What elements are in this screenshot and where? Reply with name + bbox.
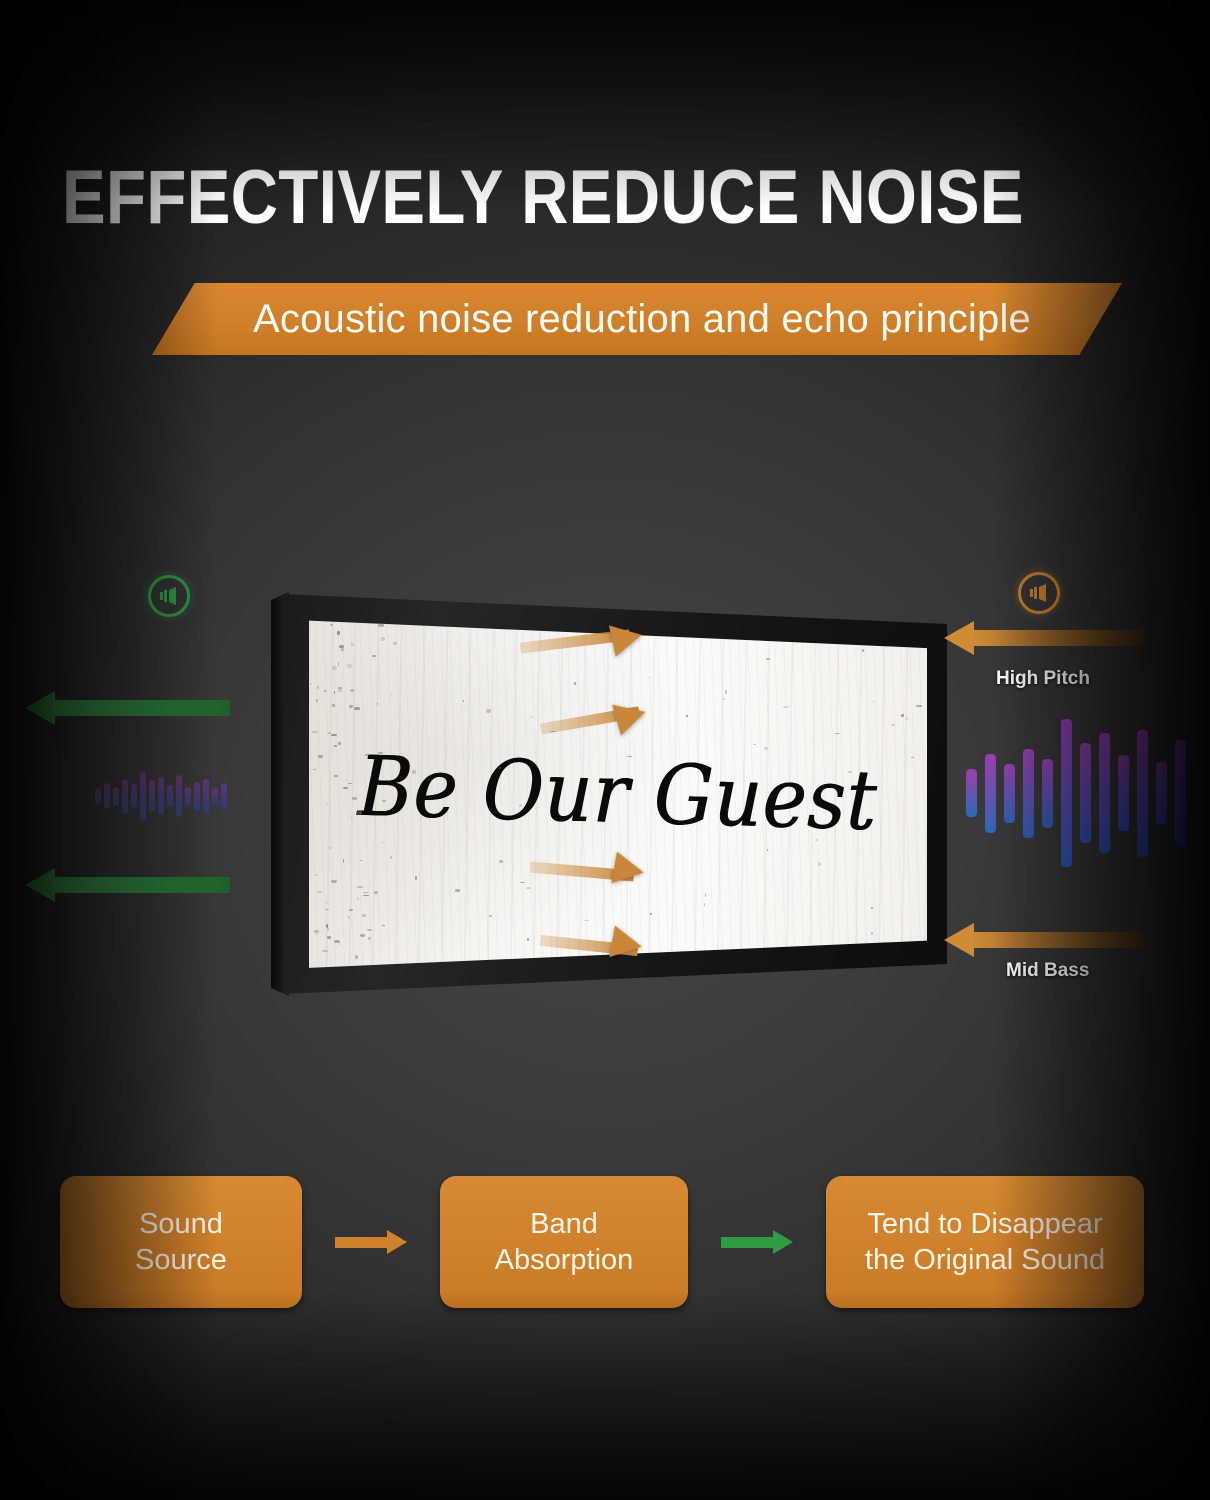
subtitle-banner: Acoustic noise reduction and echo princi… bbox=[152, 283, 1122, 355]
panel-speck bbox=[360, 934, 365, 937]
panel-speck bbox=[848, 771, 852, 772]
panel-speck bbox=[322, 950, 327, 952]
panel-speck bbox=[348, 916, 350, 918]
waveform-bar bbox=[1023, 749, 1034, 838]
panel-speck bbox=[499, 860, 503, 863]
waveform-bar bbox=[176, 775, 182, 817]
pass-through-arrow-3 bbox=[611, 852, 646, 889]
panel-speck bbox=[324, 690, 326, 692]
panel-speck bbox=[725, 690, 727, 694]
panel-speck bbox=[347, 664, 352, 668]
waveform-bar bbox=[221, 783, 227, 809]
waveform-bar bbox=[158, 777, 164, 815]
panel-speck bbox=[351, 643, 354, 646]
waveform-bar bbox=[1080, 743, 1091, 843]
panel-speck bbox=[412, 770, 416, 773]
waveform-bar bbox=[185, 787, 191, 806]
panel-speck bbox=[378, 623, 384, 627]
waveform-left bbox=[95, 770, 230, 822]
label-mid-bass: Mid Bass bbox=[1006, 960, 1089, 982]
panel-speck bbox=[365, 754, 368, 756]
panel-speck bbox=[349, 705, 354, 708]
panel-speck bbox=[527, 938, 529, 941]
waveform-right bbox=[966, 718, 1194, 868]
panel-speck bbox=[489, 915, 492, 917]
panel-speck bbox=[871, 907, 873, 910]
panel-speck bbox=[326, 924, 328, 927]
panel-speck bbox=[318, 755, 323, 757]
panel-speck bbox=[871, 932, 873, 935]
waveform-bar bbox=[1042, 759, 1053, 828]
panel-speck bbox=[338, 689, 342, 691]
speaker-icon-right bbox=[1018, 572, 1060, 614]
panel-speck bbox=[783, 706, 788, 708]
infographic-page: EFFECTIVELY REDUCE NOISE Acoustic noise … bbox=[0, 0, 1210, 1500]
panel-speck bbox=[317, 686, 319, 689]
panel-speck bbox=[337, 631, 340, 634]
waveform-bar bbox=[1061, 719, 1072, 867]
panel-speck bbox=[382, 925, 385, 926]
panel-speck bbox=[455, 889, 461, 891]
waveform-bar bbox=[212, 788, 218, 804]
speaker-icon-left bbox=[148, 575, 190, 617]
panel-speck bbox=[316, 699, 318, 701]
waveform-bar bbox=[104, 783, 110, 809]
waveform-bar bbox=[1175, 740, 1186, 847]
flow-step-disappear-sound: Tend to Disappear the Original Sound bbox=[826, 1176, 1144, 1308]
panel-speck bbox=[334, 775, 338, 777]
waveform-bar bbox=[1156, 762, 1167, 824]
banner-label: Acoustic noise reduction and echo princi… bbox=[152, 283, 1122, 355]
panel-speck bbox=[891, 724, 895, 726]
panel-speck bbox=[331, 880, 337, 882]
panel-speck bbox=[767, 849, 768, 850]
waveform-bar bbox=[140, 772, 146, 820]
pass-through-arrow-1 bbox=[609, 619, 645, 657]
panel-speck bbox=[722, 698, 725, 700]
waveform-bar bbox=[149, 780, 155, 812]
panel-speck bbox=[334, 745, 338, 747]
panel-speck bbox=[818, 862, 821, 866]
incoming-arrow-high-pitch bbox=[944, 621, 1144, 655]
waveform-bar bbox=[113, 787, 119, 806]
outgoing-arrow-bottom bbox=[25, 868, 230, 902]
panel-speck bbox=[312, 731, 318, 734]
flow-connector-1 bbox=[335, 1232, 407, 1252]
panel-speck bbox=[357, 811, 362, 814]
waveform-bar bbox=[966, 769, 977, 817]
panel-speck bbox=[363, 895, 369, 896]
waveform-bar bbox=[122, 779, 128, 814]
waveform-bar bbox=[1118, 755, 1129, 831]
panel-speck bbox=[901, 714, 903, 717]
panel-speck bbox=[627, 756, 631, 757]
panel-speck bbox=[916, 705, 922, 707]
panel-speck bbox=[862, 649, 863, 652]
panel-speck bbox=[332, 704, 335, 707]
waveform-bar bbox=[194, 782, 200, 811]
panel-speck bbox=[526, 887, 531, 889]
panel-speck bbox=[357, 886, 363, 888]
incoming-arrow-mid-bass bbox=[944, 923, 1144, 957]
flow-connector-2 bbox=[721, 1232, 793, 1252]
panel-speck bbox=[574, 682, 577, 684]
panel-speck bbox=[415, 876, 417, 880]
panel-speck bbox=[355, 955, 358, 959]
panel-speck bbox=[338, 662, 339, 666]
page-title: EFFECTIVELY REDUCE NOISE bbox=[62, 158, 1024, 238]
panel-speck bbox=[584, 920, 589, 921]
flow-step-sound-source: Sound Source bbox=[60, 1176, 302, 1308]
process-flow: Sound Source Band Absorption Tend to Dis… bbox=[60, 1176, 1144, 1308]
panel-speck bbox=[339, 943, 340, 945]
panel-speck bbox=[368, 937, 371, 940]
waveform-bar bbox=[167, 785, 173, 807]
panel-speck bbox=[332, 666, 337, 670]
panel-speck bbox=[334, 940, 340, 944]
outgoing-arrow-top bbox=[25, 691, 230, 725]
panel-speck bbox=[331, 734, 336, 736]
waveform-bar bbox=[1099, 733, 1110, 853]
flow-step-band-absorption: Band Absorption bbox=[440, 1176, 688, 1308]
panel-speck bbox=[372, 655, 376, 657]
panel-speck bbox=[726, 808, 730, 812]
waveform-bar bbox=[131, 784, 137, 808]
panel-speck bbox=[327, 936, 330, 939]
waveform-bar bbox=[985, 754, 996, 833]
panel-speck bbox=[329, 847, 331, 849]
panel-speck bbox=[349, 909, 353, 912]
panel-speck bbox=[325, 909, 330, 911]
waveform-bar bbox=[203, 779, 209, 814]
waveform-bar bbox=[1004, 764, 1015, 823]
panel-speck bbox=[764, 747, 767, 750]
panel-speck bbox=[686, 715, 689, 717]
panel-speck bbox=[377, 703, 378, 705]
pass-through-arrow-4 bbox=[609, 926, 644, 963]
label-high-pitch: High Pitch bbox=[996, 668, 1090, 690]
waveform-bar bbox=[1137, 730, 1148, 857]
waveform-bar bbox=[95, 788, 101, 804]
panel-speck bbox=[766, 658, 770, 660]
